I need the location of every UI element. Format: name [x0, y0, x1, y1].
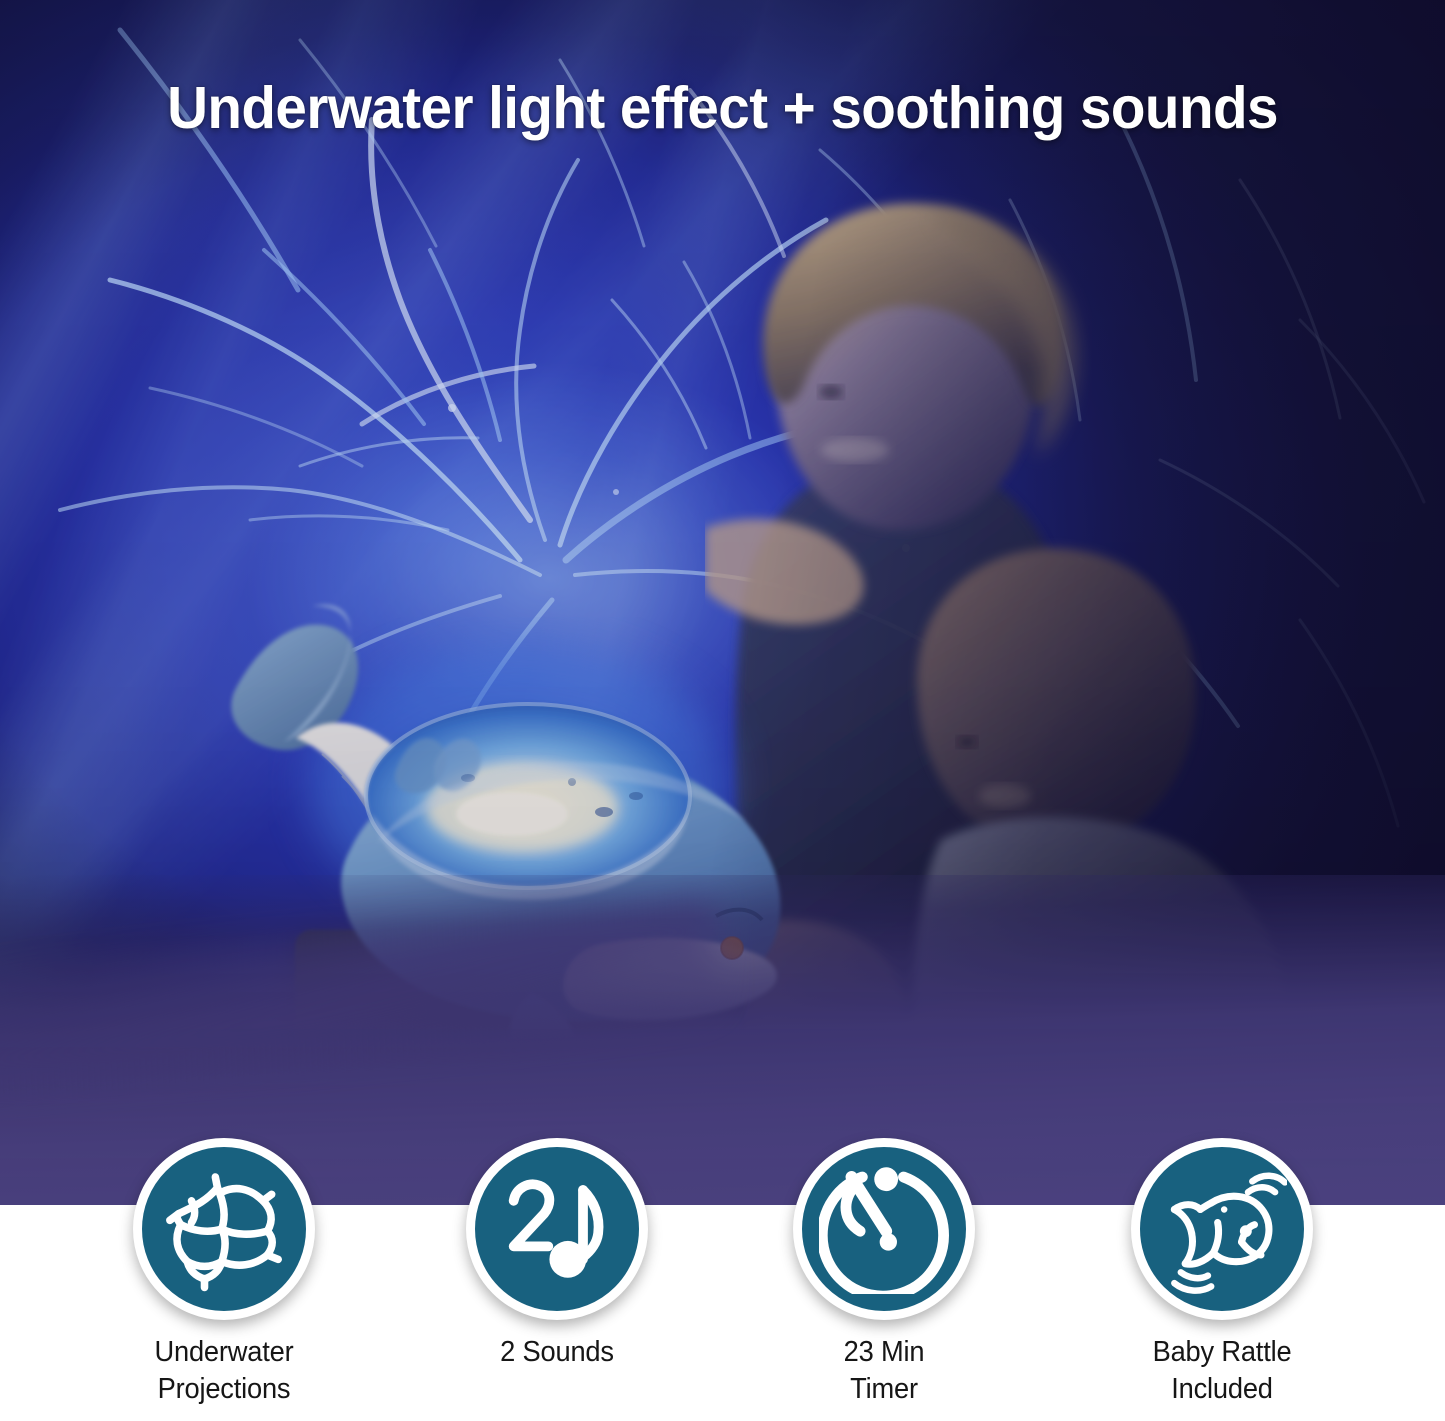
- feature-label-line1: Underwater: [111, 1334, 337, 1371]
- feature-badge-circle: [793, 1138, 975, 1320]
- product-feature-image: Underwater light effect + soothing sound…: [0, 0, 1445, 1421]
- feature-two-sounds[interactable]: 2 Sounds: [437, 1138, 677, 1371]
- feature-label-line1: 23 Min: [771, 1334, 997, 1371]
- two-sounds-music-note-icon: [492, 1164, 622, 1294]
- lifestyle-photo: [0, 0, 1445, 1205]
- page-title: Underwater light effect + soothing sound…: [29, 78, 1416, 140]
- feature-label-line2: Projections: [111, 1371, 337, 1408]
- feature-timer[interactable]: 23 Min Timer: [764, 1138, 1004, 1407]
- feature-badge-circle: [1131, 1138, 1313, 1320]
- feature-label-line1: Baby Rattle: [1109, 1334, 1335, 1371]
- feature-label: 2 Sounds: [444, 1334, 670, 1371]
- feature-badge-circle: [466, 1138, 648, 1320]
- underwater-projection-icon: [159, 1164, 289, 1294]
- feature-label: Baby Rattle Included: [1109, 1334, 1335, 1407]
- feature-label-line2: Included: [1109, 1371, 1335, 1408]
- feature-label: 23 Min Timer: [771, 1334, 997, 1407]
- whale-rattle-icon: [1157, 1164, 1287, 1294]
- timer-icon: [819, 1164, 949, 1294]
- feature-badge-circle: [133, 1138, 315, 1320]
- feature-label-line1: 2 Sounds: [444, 1334, 670, 1371]
- feature-underwater-projections[interactable]: Underwater Projections: [104, 1138, 344, 1407]
- blue-light-cast: [0, 0, 1445, 1205]
- feature-baby-rattle[interactable]: Baby Rattle Included: [1102, 1138, 1342, 1407]
- feature-label-line2: Timer: [771, 1371, 997, 1408]
- feature-label: Underwater Projections: [111, 1334, 337, 1407]
